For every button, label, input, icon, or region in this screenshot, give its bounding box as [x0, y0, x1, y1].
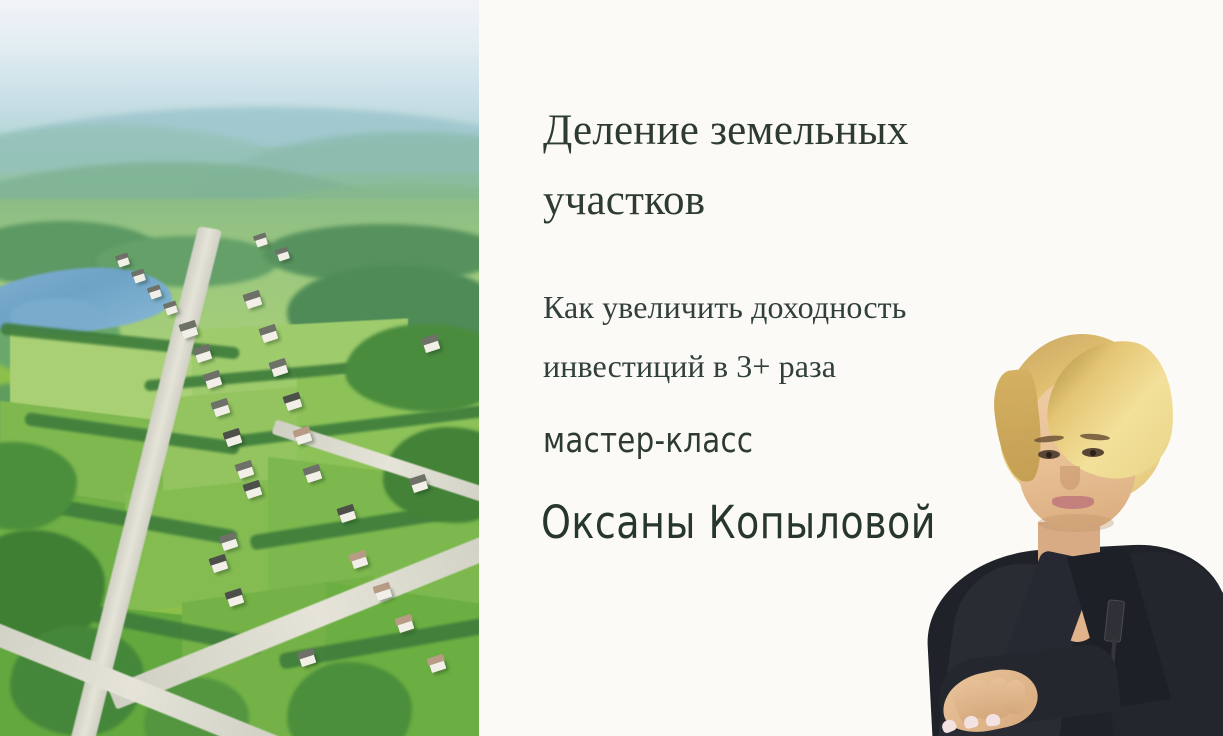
eye-left	[1038, 450, 1060, 459]
speaker-portrait	[920, 300, 1223, 736]
landscape-photo-layers	[0, 0, 479, 736]
finger-4	[1006, 680, 1025, 714]
promo-slide: Деление земельных участков Как увеличить…	[0, 0, 1223, 736]
landscape-photo	[0, 0, 479, 736]
event-type-label: мастер-класс	[543, 424, 753, 459]
chin-shadow	[1038, 514, 1114, 532]
title-line-1: Деление земельных	[543, 96, 1103, 166]
title-line-2: участков	[543, 166, 1103, 236]
page-title: Деление земельных участков	[543, 96, 1103, 235]
eye-right	[1082, 448, 1104, 457]
portrait-layers	[920, 300, 1223, 736]
content-panel: Деление земельных участков Как увеличить…	[479, 0, 1223, 736]
speaker-name: Оксаны Копыловой	[541, 500, 936, 545]
mouth	[1052, 496, 1094, 509]
fingernail-3	[985, 713, 1000, 727]
nose	[1060, 466, 1080, 490]
